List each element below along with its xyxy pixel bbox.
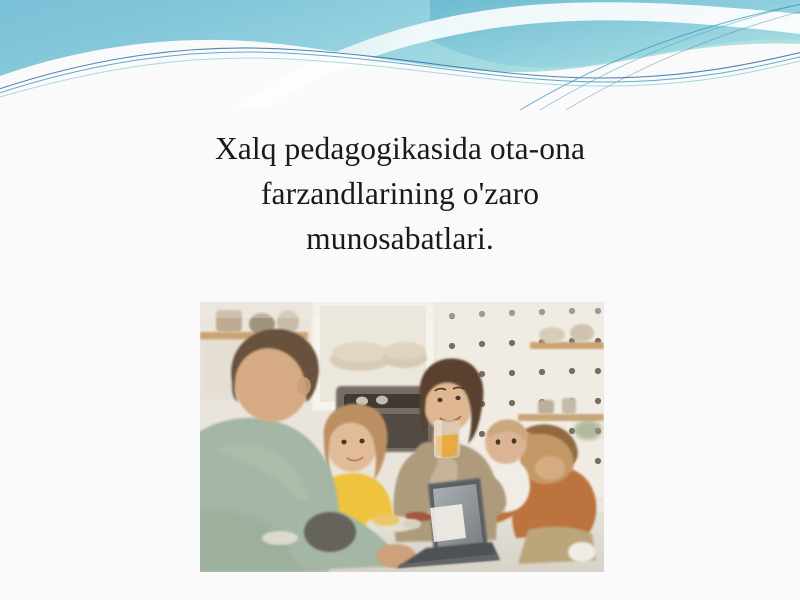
wave-line-diag-1	[520, 2, 800, 110]
family-kitchen-photo	[200, 302, 604, 572]
slide-title-block: Xalq pedagogikasida ota-ona farzandlarin…	[120, 126, 680, 261]
wave-teal-body	[0, 0, 800, 76]
wave-white-body	[0, 44, 800, 110]
wave-line-diag-2	[540, 0, 800, 110]
wave-line-cyan	[0, 52, 800, 96]
wave-teal-accent	[430, 0, 800, 68]
slide-title: Xalq pedagogikasida ota-ona farzandlarin…	[120, 126, 680, 261]
presentation-slide: Xalq pedagogikasida ota-ona farzandlarin…	[0, 0, 800, 600]
wave-line-diag-3	[566, 6, 800, 110]
wave-line-blue	[0, 48, 800, 92]
wave-line-lightcyan	[0, 58, 800, 100]
photo-canvas	[200, 302, 604, 572]
wave-white-ribbon	[232, 2, 800, 110]
decorative-wave-banner	[0, 0, 800, 110]
